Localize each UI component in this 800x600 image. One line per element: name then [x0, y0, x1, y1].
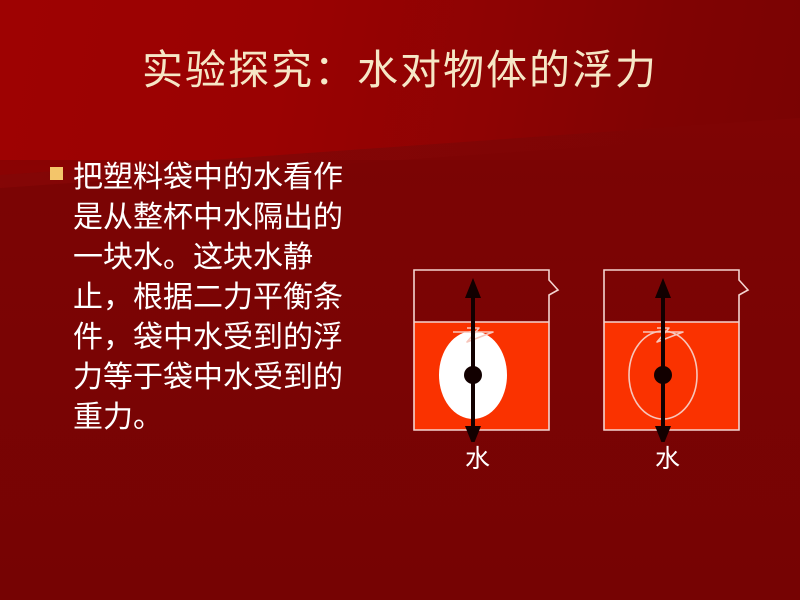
figure-left-caption: 水 — [405, 444, 550, 474]
center-of-gravity-dot — [464, 366, 482, 384]
figure-right-caption: 水 — [595, 444, 740, 474]
body-paragraph: 把塑料袋中的水看作是从整杯中水隔出的一块水。这块水静止，根据二力平衡条件，袋中水… — [73, 158, 343, 438]
gravity-force-arrowhead — [465, 426, 481, 442]
square-bullet-icon — [50, 167, 63, 180]
center-of-gravity-dot — [654, 366, 672, 384]
slide-title: 实验探究：水对物体的浮力 — [0, 44, 800, 96]
gravity-force-arrowhead — [655, 426, 671, 442]
beaker-diagram-outline — [595, 262, 755, 442]
buoyant-force-arrowhead — [465, 278, 481, 298]
slide-canvas: 实验探究：水对物体的浮力 把塑料袋中的水看作是从整杯中水隔出的一块水。这块水静止… — [0, 0, 800, 600]
figure-left-beaker: 水 — [405, 262, 565, 477]
body-bullet-block: 把塑料袋中的水看作是从整杯中水隔出的一块水。这块水静止，根据二力平衡条件，袋中水… — [50, 158, 380, 438]
beaker-diagram-filled — [405, 262, 565, 442]
buoyant-force-arrowhead — [655, 278, 671, 298]
figure-right-beaker: 水 — [595, 262, 755, 477]
